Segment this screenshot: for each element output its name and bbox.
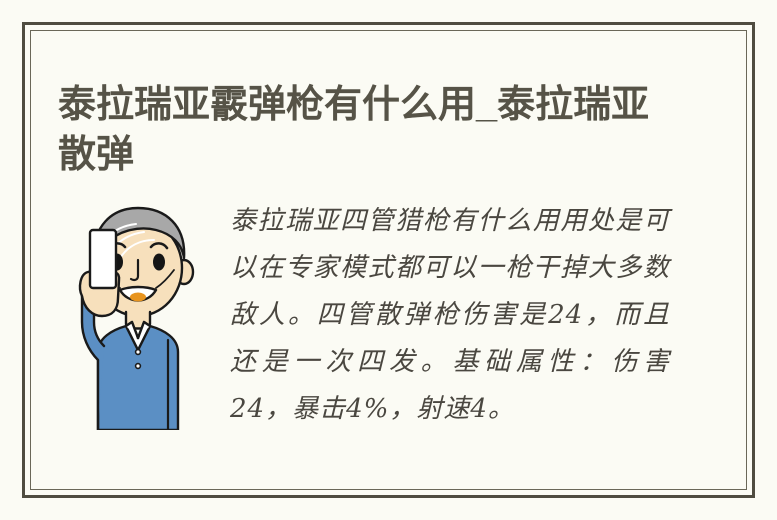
page-root: 泰拉瑞亚霰弹枪有什么用_泰拉瑞亚散弹 xyxy=(0,0,777,520)
article-body-row: 泰拉瑞亚四管猎枪有什么用用处是可以在专家模式都可以一枪干掉大多数敌人。四管散弹枪… xyxy=(30,190,747,450)
article-content: 泰拉瑞亚霰弹枪有什么用_泰拉瑞亚散弹 xyxy=(30,30,747,490)
elderly-man-holding-phone-illustration xyxy=(68,200,208,430)
article-paragraph: 泰拉瑞亚四管猎枪有什么用用处是可以在专家模式都可以一枪干掉大多数敌人。四管散弹枪… xyxy=(230,198,670,433)
page-title: 泰拉瑞亚霰弹枪有什么用_泰拉瑞亚散弹 xyxy=(58,80,678,180)
